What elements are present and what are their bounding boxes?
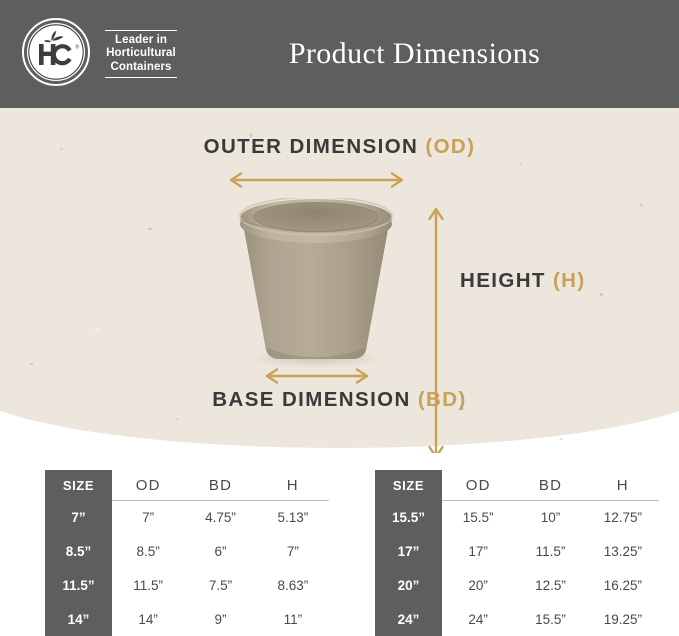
outer-dimension-label: OUTER DIMENSION (OD) [0,135,679,159]
height-text: HEIGHT [460,269,553,292]
column-header-size: SIZE [375,470,442,501]
outer-dimension-arrow-icon [226,171,407,189]
base-dimension-text: BASE DIMENSION [212,388,418,411]
column-header-size: SIZE [45,470,112,501]
cell-bd: 7.5” [184,569,256,603]
cell-h: 8.63” [257,569,329,603]
texture-speck [30,363,33,365]
texture-speck [175,418,178,420]
dimension-table-small: SIZE OD BD H 7” 7” 4.75” 5.13” 8.5” 8.5”… [45,470,329,636]
table-header-row: SIZE OD BD H [45,470,329,501]
height-arrow-icon [427,204,445,453]
cell-h: 13.25” [587,535,659,569]
column-header-h: H [257,470,329,501]
outer-dimension-text: OUTER DIMENSION [204,135,426,158]
cell-size: 14” [45,602,112,636]
cell-bd: 11.5” [514,535,586,569]
cell-od: 17” [442,535,514,569]
cell-h: 11” [257,602,329,636]
table-row: 11.5” 11.5” 7.5” 8.63” [45,569,329,603]
table-row: 20” 20” 12.5” 16.25” [375,569,659,603]
cell-h: 7” [257,535,329,569]
header-bar: ® Leader in Horticultural Containers Pro… [0,0,679,108]
texture-speck [640,203,642,207]
table-row: 15.5” 15.5” 10” 12.75” [375,501,659,535]
outer-dimension-abbr: (OD) [425,135,475,158]
cell-h: 5.13” [257,501,329,535]
cell-size: 15.5” [375,501,442,535]
cell-bd: 15.5” [514,602,586,636]
cell-bd: 4.75” [184,501,256,535]
texture-speck [560,438,563,440]
table-header-row: SIZE OD BD H [375,470,659,501]
cell-od: 7” [112,501,184,535]
cell-size: 20” [375,569,442,603]
table-row: 7” 7” 4.75” 5.13” [45,501,329,535]
texture-speck [600,293,603,296]
cell-od: 11.5” [112,569,184,603]
cell-od: 8.5” [112,535,184,569]
planter-pot-illustration [222,198,410,370]
cell-h: 16.25” [587,569,659,603]
column-header-od: OD [442,470,514,501]
cell-bd: 12.5” [514,569,586,603]
cell-od: 24” [442,602,514,636]
base-dimension-abbr: (BD) [418,388,467,411]
cell-size: 17” [375,535,442,569]
diagram-panel: OUTER DIMENSION (OD) [0,108,679,453]
dimension-table-large: SIZE OD BD H 15.5” 15.5” 10” 12.75” 17” … [375,470,659,636]
cell-od: 20” [442,569,514,603]
height-label: HEIGHT (H) [460,269,586,293]
height-abbr: (H) [553,269,586,292]
base-dimension-label: BASE DIMENSION (BD) [0,388,679,412]
base-dimension-arrow-icon [262,367,372,385]
cell-bd: 9” [184,602,256,636]
cell-od: 15.5” [442,501,514,535]
texture-speck [148,228,152,230]
cell-bd: 10” [514,501,586,535]
table-row: 17” 17” 11.5” 13.25” [375,535,659,569]
table-row: 14” 14” 9” 11” [45,602,329,636]
cell-h: 12.75” [587,501,659,535]
dimension-tables: SIZE OD BD H 7” 7” 4.75” 5.13” 8.5” 8.5”… [0,470,679,636]
cell-bd: 6” [184,535,256,569]
texture-speck [520,163,522,165]
cell-size: 11.5” [45,569,112,603]
texture-speck [95,328,100,331]
column-header-bd: BD [184,470,256,501]
cell-h: 19.25” [587,602,659,636]
table-row: 24” 24” 15.5” 19.25” [375,602,659,636]
column-header-bd: BD [514,470,586,501]
page-title: Product Dimensions [0,0,679,108]
cell-size: 24” [375,602,442,636]
cell-od: 14” [112,602,184,636]
column-header-od: OD [112,470,184,501]
cell-size: 8.5” [45,535,112,569]
table-row: 8.5” 8.5” 6” 7” [45,535,329,569]
column-header-h: H [587,470,659,501]
cell-size: 7” [45,501,112,535]
